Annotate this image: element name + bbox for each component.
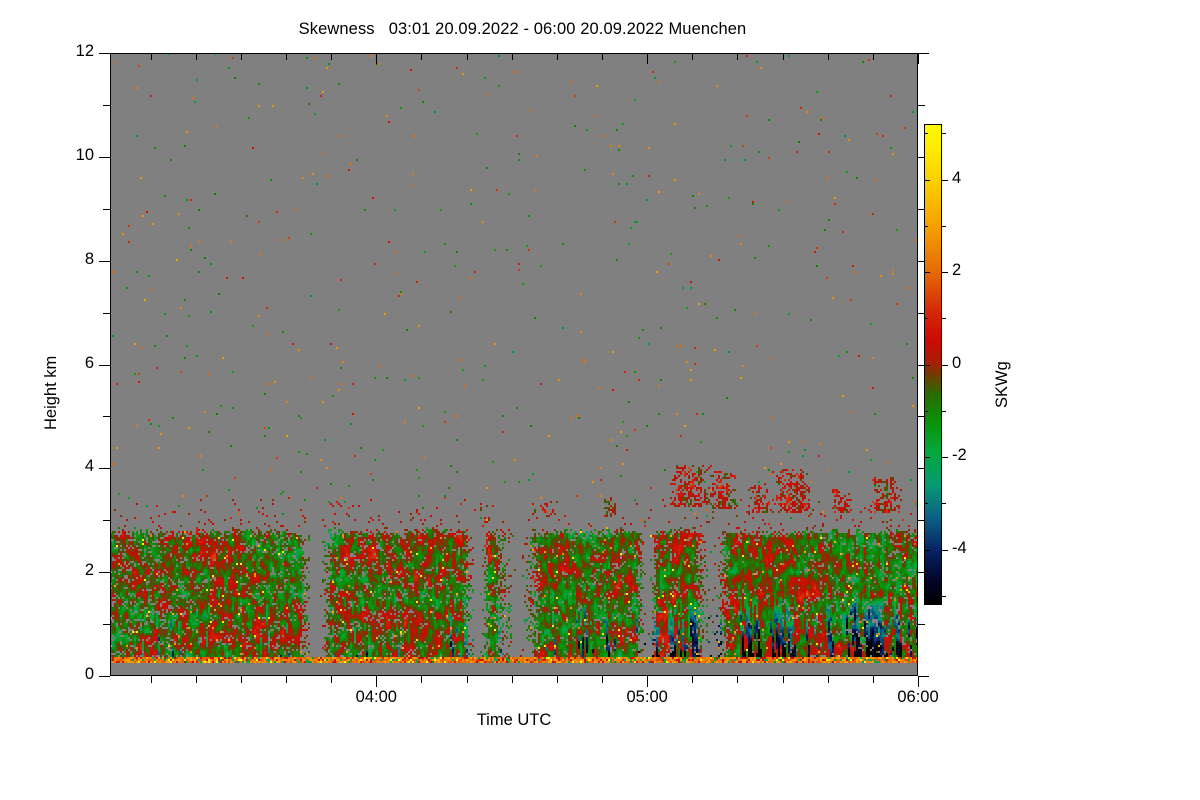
colorbar-tick — [942, 365, 948, 366]
x-axis-minor-tick — [873, 53, 874, 60]
y-axis-minor-tick — [918, 105, 925, 106]
x-axis-minor-tick — [512, 676, 513, 683]
y-axis-tick-label: 10 — [76, 146, 94, 165]
y-axis-tick — [99, 53, 110, 54]
x-axis-minor-tick — [557, 676, 558, 683]
colorbar-tick-label: -4 — [952, 539, 967, 558]
y-axis-tick-label: 4 — [85, 457, 94, 476]
x-axis-minor-tick — [331, 676, 332, 683]
colorbar-tick — [924, 550, 930, 551]
colorbar-minor-tick — [924, 226, 928, 227]
y-axis-minor-tick — [103, 624, 110, 625]
x-axis-minor-tick — [783, 53, 784, 60]
colorbar-minor-tick — [924, 596, 928, 597]
colorbar-minor-tick — [942, 133, 946, 134]
x-axis-tick — [647, 676, 648, 687]
colorbar-minor-tick — [942, 503, 946, 504]
colorbar-tick — [942, 550, 948, 551]
x-axis-minor-tick — [692, 53, 693, 60]
plot-root: Skewness 03:01 20.09.2022 - 06:00 20.09.… — [0, 0, 1200, 800]
y-axis-tick-label: 0 — [85, 665, 94, 684]
heatmap-plot-area[interactable] — [110, 53, 918, 676]
colorbar-tick — [942, 272, 948, 273]
x-axis-minor-tick — [286, 676, 287, 683]
y-axis-minor-tick — [103, 105, 110, 106]
y-axis-tick — [918, 53, 929, 54]
y-axis-tick-label: 2 — [85, 561, 94, 580]
x-axis-minor-tick — [602, 676, 603, 683]
x-axis-tick — [376, 53, 377, 64]
x-axis-tick-label: 06:00 — [897, 688, 938, 707]
x-axis-minor-tick — [421, 676, 422, 683]
x-axis-minor-tick — [828, 676, 829, 683]
x-axis-minor-tick — [873, 676, 874, 683]
x-axis-tick — [918, 676, 919, 687]
x-axis-minor-tick — [737, 676, 738, 683]
x-axis-minor-tick — [828, 53, 829, 60]
y-axis-tick — [99, 468, 110, 469]
colorbar-minor-tick — [942, 226, 946, 227]
y-axis-title: Height km — [42, 356, 61, 430]
colorbar-tick-label: 4 — [952, 169, 961, 188]
colorbar-tick — [942, 180, 948, 181]
colorbar-minor-tick — [942, 596, 946, 597]
colorbar-tick — [924, 180, 930, 181]
x-axis-minor-tick — [602, 53, 603, 60]
y-axis-minor-tick — [103, 313, 110, 314]
colorbar-tick-label: 2 — [952, 261, 961, 280]
x-axis-minor-tick — [512, 53, 513, 60]
colorbar-tick-label: 0 — [952, 354, 961, 373]
x-axis-minor-tick — [421, 53, 422, 60]
x-axis-minor-tick — [692, 676, 693, 683]
colorbar-minor-tick — [942, 318, 946, 319]
y-axis-tick-label: 6 — [85, 354, 94, 373]
page-title: Skewness 03:01 20.09.2022 - 06:00 20.09.… — [0, 20, 1045, 39]
y-axis-tick — [99, 572, 110, 573]
x-axis-minor-tick — [151, 53, 152, 60]
x-axis-minor-tick — [467, 53, 468, 60]
y-axis-tick — [918, 676, 929, 677]
x-axis-minor-tick — [151, 676, 152, 683]
colorbar-minor-tick — [924, 318, 928, 319]
y-axis-tick-label: 8 — [85, 250, 94, 269]
x-axis-minor-tick — [196, 676, 197, 683]
colorbar-tick-label: -2 — [952, 446, 967, 465]
y-axis-minor-tick — [103, 520, 110, 521]
y-axis-minor-tick — [103, 416, 110, 417]
x-axis-minor-tick — [196, 53, 197, 60]
x-axis-tick-label: 05:00 — [627, 688, 668, 707]
x-axis-tick — [376, 676, 377, 687]
y-axis-tick — [99, 676, 110, 677]
y-axis-tick-label: 12 — [76, 42, 94, 61]
y-axis-tick — [99, 365, 110, 366]
y-axis-tick — [99, 261, 110, 262]
x-axis-minor-tick — [286, 53, 287, 60]
colorbar-minor-tick — [924, 411, 928, 412]
x-axis-tick — [647, 53, 648, 64]
y-axis-minor-tick — [103, 209, 110, 210]
y-axis-minor-tick — [918, 624, 925, 625]
x-axis-minor-tick — [331, 53, 332, 60]
colorbar-minor-tick — [942, 411, 946, 412]
heatmap-data-canvas[interactable] — [110, 53, 918, 676]
y-axis-tick — [99, 157, 110, 158]
x-axis-minor-tick — [737, 53, 738, 60]
x-axis-tick — [918, 53, 919, 64]
colorbar-tick — [924, 272, 930, 273]
x-axis-tick-label: 04:00 — [356, 688, 397, 707]
colorbar-minor-tick — [924, 133, 928, 134]
x-axis-minor-tick — [241, 53, 242, 60]
x-axis-minor-tick — [467, 676, 468, 683]
x-axis-title: Time UTC — [110, 711, 918, 730]
colorbar-tick — [924, 457, 930, 458]
x-axis-minor-tick — [783, 676, 784, 683]
colorbar-minor-tick — [924, 503, 928, 504]
x-axis-minor-tick — [241, 676, 242, 683]
colorbar-tick — [924, 365, 930, 366]
x-axis-minor-tick — [557, 53, 558, 60]
colorbar-title: SKWg — [993, 361, 1012, 408]
colorbar-tick — [942, 457, 948, 458]
